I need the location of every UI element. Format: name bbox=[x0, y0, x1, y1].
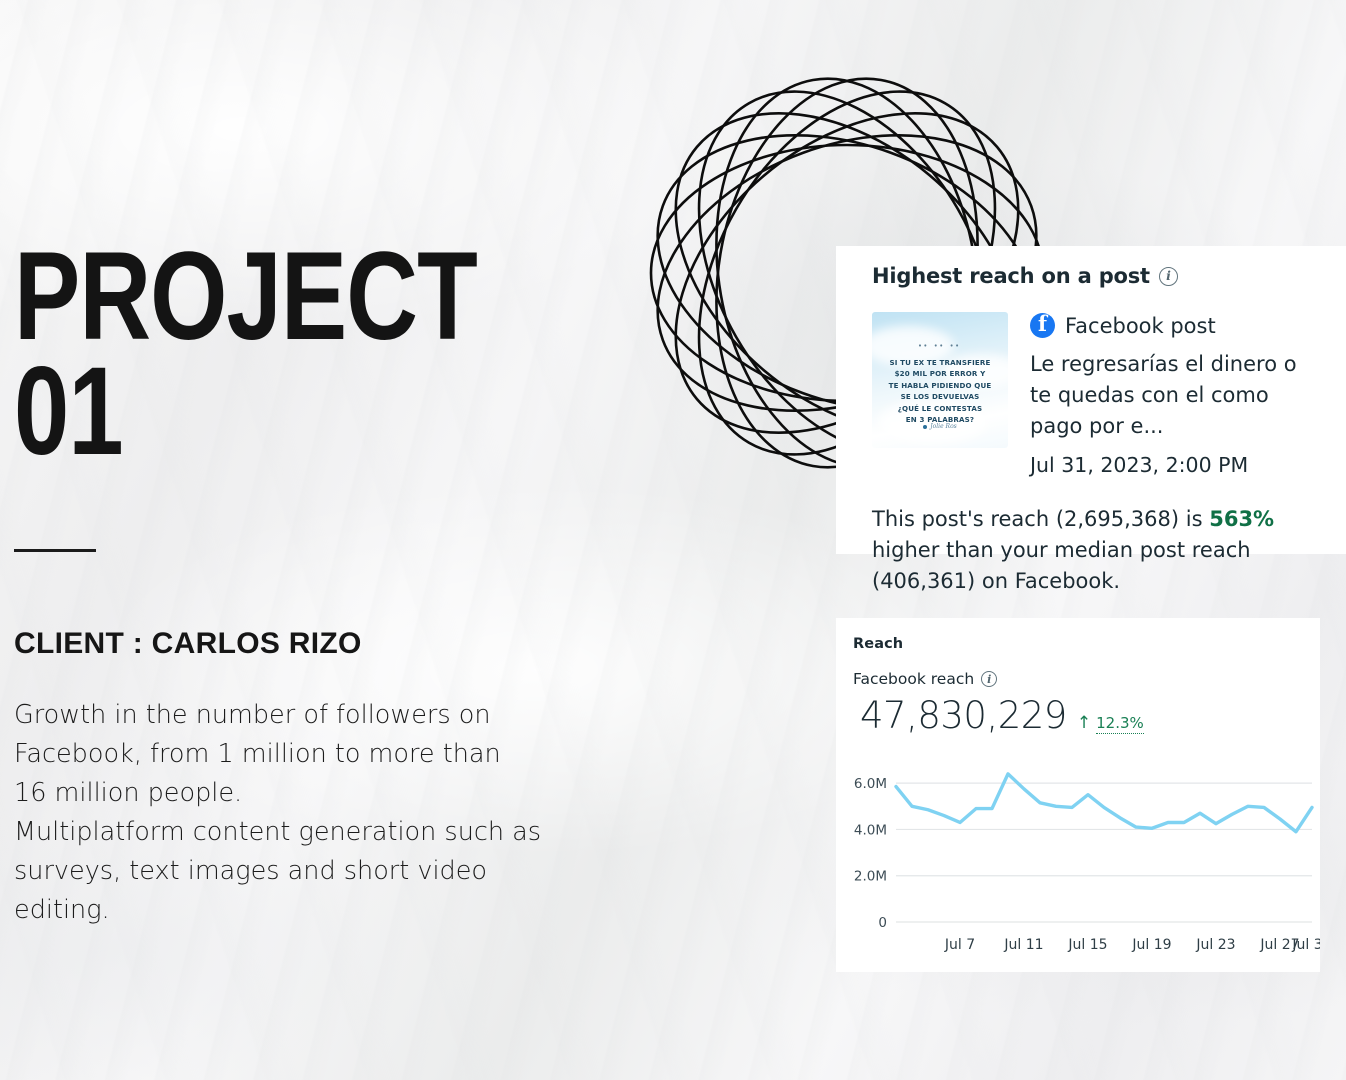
client-label: CLIENT : CARLOS RIZO bbox=[14, 627, 362, 661]
thumbnail-signature-text: Jolie Ros bbox=[930, 423, 957, 430]
reach-value-row: 47,830,229 ↑ 12.3% bbox=[860, 694, 1320, 737]
facebook-reach-label-row: Facebook reach i bbox=[853, 670, 1320, 688]
y-tick-label: 0 bbox=[878, 915, 887, 931]
reach-delta: ↑ 12.3% bbox=[1077, 714, 1144, 734]
x-tick-label: Jul 7 bbox=[944, 937, 975, 953]
info-icon[interactable]: i bbox=[1159, 267, 1178, 286]
x-tick-label: Jul 31 bbox=[1291, 937, 1320, 953]
x-tick-label: Jul 19 bbox=[1131, 937, 1171, 953]
chart-y-axis-labels: 02.0M4.0M6.0M bbox=[854, 776, 887, 931]
reach-chart-card: Reach Facebook reach i 47,830,229 ↑ 12.3… bbox=[836, 618, 1320, 972]
reach-line-chart[interactable]: 02.0M4.0M6.0M Jul 7Jul 11Jul 15Jul 19Jul… bbox=[844, 746, 1320, 964]
thumbnail-dots: •• •• •• bbox=[872, 343, 1008, 350]
trend-up-icon: ↑ bbox=[1077, 715, 1091, 732]
thumbnail-text: SI TU EX TE TRANSFIERE $20 MIL POR ERROR… bbox=[878, 357, 1002, 425]
x-tick-label: Jul 15 bbox=[1067, 937, 1107, 953]
x-tick-label: Jul 11 bbox=[1003, 937, 1043, 953]
reach-summary-suffix: higher than your median post reach (406,… bbox=[872, 538, 1251, 593]
reach-summary-prefix: This post's reach (2,695,368) is bbox=[872, 507, 1209, 531]
highest-reach-card: Highest reach on a post i •• •• •• SI TU… bbox=[836, 246, 1346, 554]
title-divider bbox=[14, 549, 96, 552]
x-tick-label: Jul 23 bbox=[1195, 937, 1235, 953]
left-column: PROJECT 01 CLIENT : CARLOS RIZO Growth i… bbox=[14, 0, 654, 1080]
post-row: •• •• •• SI TU EX TE TRANSFIERE $20 MIL … bbox=[872, 312, 1324, 480]
page-title: PROJECT 01 bbox=[14, 238, 477, 469]
chart-gridlines bbox=[896, 783, 1312, 922]
post-thumbnail[interactable]: •• •• •• SI TU EX TE TRANSFIERE $20 MIL … bbox=[872, 312, 1008, 448]
post-caption: Le regresarías el dinero o te quedas con… bbox=[1030, 349, 1324, 442]
post-platform-label: Facebook post bbox=[1065, 314, 1216, 338]
reach-delta-value: 12.3% bbox=[1096, 714, 1144, 734]
post-platform-row: Facebook post bbox=[1030, 313, 1324, 338]
y-tick-label: 6.0M bbox=[854, 776, 887, 792]
reach-summary-highlight: 563% bbox=[1209, 507, 1274, 531]
info-icon[interactable]: i bbox=[981, 671, 997, 687]
project-description: Growth in the number of followers on Fac… bbox=[14, 696, 614, 930]
reach-summary: This post's reach (2,695,368) is 563% hi… bbox=[872, 504, 1324, 597]
card-title-row: Highest reach on a post i bbox=[872, 264, 1324, 288]
post-date: Jul 31, 2023, 2:00 PM bbox=[1030, 450, 1324, 480]
poster-page: PROJECT 01 CLIENT : CARLOS RIZO Growth i… bbox=[0, 0, 1346, 1080]
chart-x-axis-labels: Jul 7Jul 11Jul 15Jul 19Jul 23Jul 27Jul 3… bbox=[944, 937, 1320, 953]
y-tick-label: 4.0M bbox=[854, 822, 887, 838]
facebook-icon bbox=[1030, 313, 1055, 338]
y-tick-label: 2.0M bbox=[854, 869, 887, 885]
post-meta: Facebook post Le regresarías el dinero o… bbox=[1030, 312, 1324, 480]
facebook-reach-label: Facebook reach bbox=[853, 670, 974, 688]
reach-value: 47,830,229 bbox=[860, 694, 1067, 737]
thumbnail-signature: Jolie Ros bbox=[872, 423, 1008, 430]
reach-heading: Reach bbox=[853, 636, 1320, 652]
card-title-text: Highest reach on a post bbox=[872, 264, 1150, 288]
